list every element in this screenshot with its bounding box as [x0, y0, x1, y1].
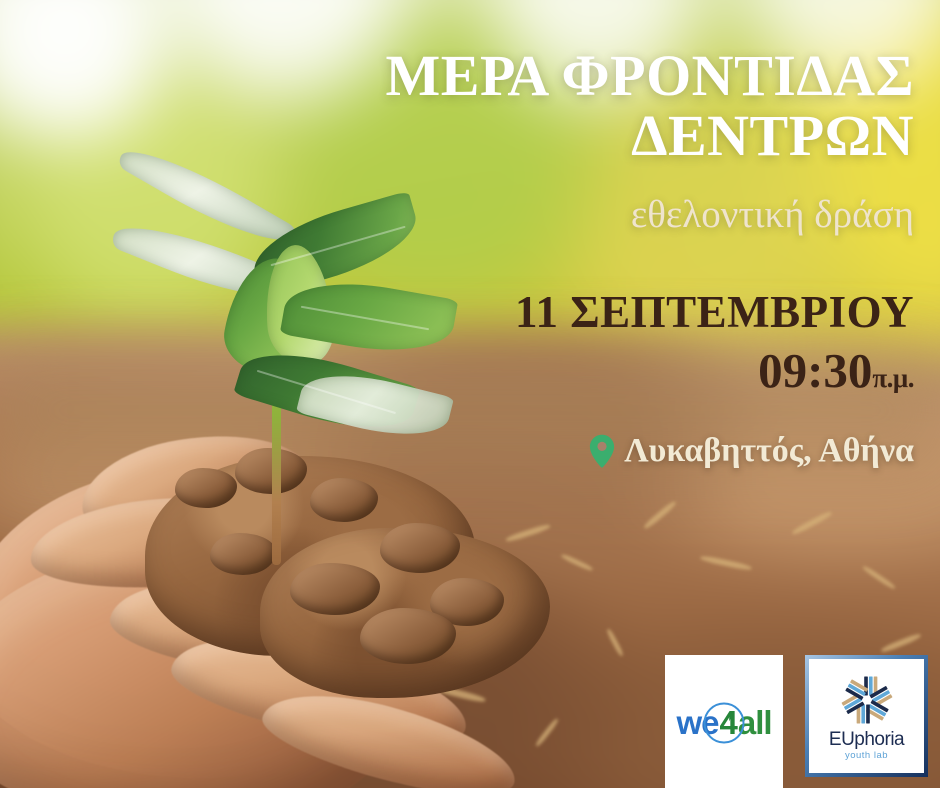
we4all-text-four: 4: [718, 704, 737, 742]
poster-content: ΜΕΡΑ ΦΡΟΝΤΙΔΑΣ ΔΕΝΤΡΩΝ εθελοντική δράση …: [0, 0, 940, 788]
we4all-wordmark: we 4 all: [665, 703, 783, 743]
leaf-icon: [725, 714, 734, 723]
logo-euphoria[interactable]: EUphoria youth lab: [805, 655, 928, 777]
event-time: 09:30π.μ.: [214, 342, 914, 399]
logo-we4all[interactable]: we 4 all: [665, 655, 783, 788]
event-time-meridiem: π.μ.: [872, 363, 914, 393]
event-location-text: Λυκαβηττός, Αθήνα: [624, 432, 914, 470]
event-location: Λυκαβηττός, Αθήνα: [214, 432, 914, 470]
page-title: ΜΕΡΑ ΦΡΟΝΤΙΔΑΣ ΔΕΝΤΡΩΝ: [214, 46, 914, 167]
logo-euphoria-inner: EUphoria youth lab: [809, 659, 924, 773]
subtitle: εθελοντική δράση: [214, 192, 914, 237]
map-pin-icon: [589, 434, 615, 468]
event-time-value: 09:30: [758, 343, 872, 398]
headline-line-1: ΜΕΡΑ ΦΡΟΝΤΙΔΑΣ: [386, 43, 914, 108]
headline-line-2: ΔΕΝΤΡΩΝ: [214, 106, 914, 166]
pinwheel-icon: [839, 672, 895, 728]
euphoria-tagline: youth lab: [845, 751, 888, 761]
euphoria-wordmark: EUphoria: [829, 730, 904, 749]
poster-canvas: ΜΕΡΑ ΦΡΟΝΤΙΔΑΣ ΔΕΝΤΡΩΝ εθελοντική δράση …: [0, 0, 940, 788]
event-date: 11 ΣΕΠΤΕΜΒΡΙΟΥ: [214, 286, 914, 338]
